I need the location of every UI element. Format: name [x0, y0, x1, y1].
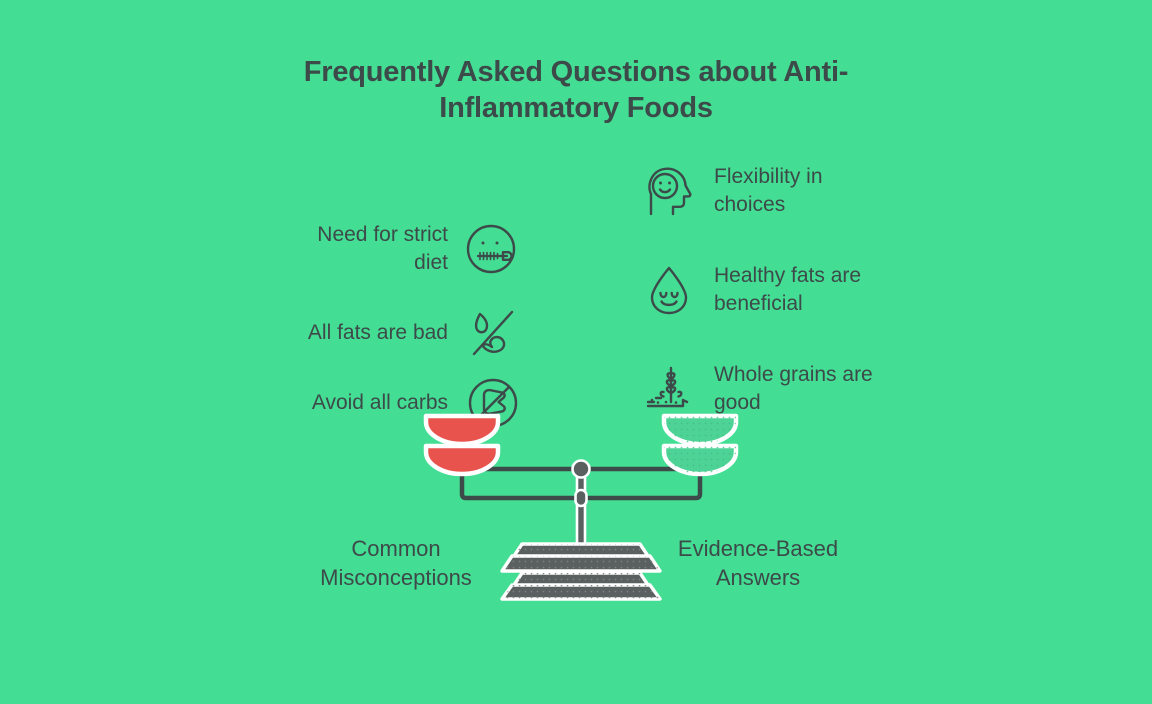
page-title-line-1: Frequently Asked Questions about Anti-	[0, 54, 1152, 90]
answer-item-healthy-fats: Healthy fats are beneficial	[638, 259, 938, 321]
misconception-label-strict-diet: Need for strict diet	[317, 221, 448, 277]
misconception-item-all-fats-bad: All fats are bad	[296, 302, 524, 364]
page-title: Frequently Asked Questions about Anti- I…	[0, 54, 1152, 126]
scale-caption-right: Evidence-Based Answers	[628, 534, 888, 592]
answer-label-flexibility: Flexibility in choices	[714, 163, 823, 219]
scale-caption-left: Common Misconceptions	[266, 534, 526, 592]
zipped-mouth-face-icon	[462, 218, 524, 280]
smiling-droplet-icon	[638, 259, 700, 321]
page-title-line-2: Inflammatory Foods	[0, 90, 1152, 126]
scale-pan-left	[426, 416, 498, 474]
head-smile-icon	[638, 160, 700, 222]
misconception-label-all-fats-bad: All fats are bad	[308, 319, 448, 347]
no-fats-icon	[462, 302, 524, 364]
scale-pivot	[573, 461, 590, 478]
scale-pan-right	[664, 416, 736, 474]
misconception-item-strict-diet: Need for strict diet	[296, 218, 524, 280]
answer-item-flexibility: Flexibility in choices	[638, 160, 938, 222]
answer-label-healthy-fats: Healthy fats are beneficial	[714, 262, 861, 318]
